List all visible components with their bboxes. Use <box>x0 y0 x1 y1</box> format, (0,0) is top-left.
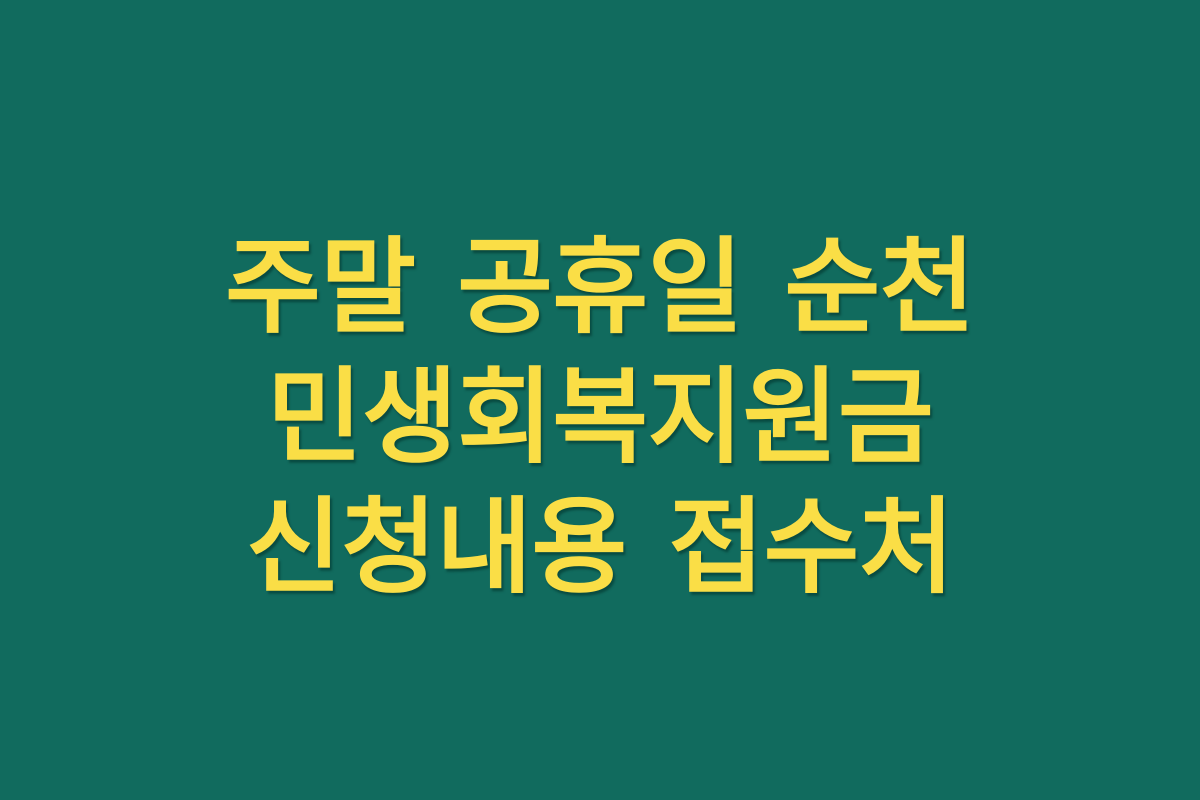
thumbnail-canvas: 주말 공휴일 순천 민생회복지원금 신청내용 접수처 <box>0 0 1200 800</box>
headline-block: 주말 공휴일 순천 민생회복지원금 신청내용 접수처 <box>80 222 1120 612</box>
headline-title: 주말 공휴일 순천 민생회복지원금 신청내용 접수처 <box>80 222 1120 612</box>
